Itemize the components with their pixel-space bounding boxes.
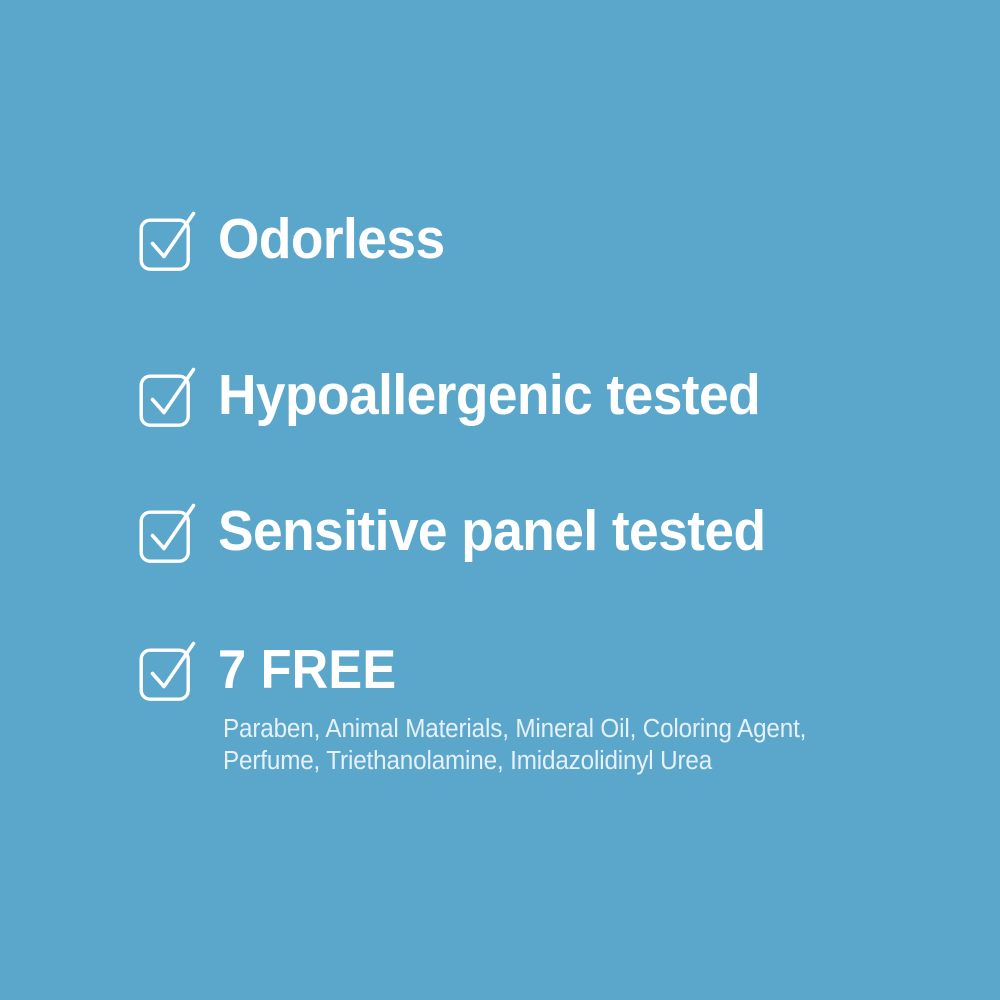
feature-list: Odorless Hypoallergenic tested [0, 0, 1000, 1000]
feature-text-column: Odorless [218, 208, 460, 269]
product-feature-panel: Odorless Hypoallergenic tested [0, 0, 1000, 1000]
feature-subline: Perfume, Triethanolamine, Imidazolidinyl… [223, 745, 806, 777]
list-item: Sensitive panel tested [138, 500, 804, 564]
feature-sublist: Paraben, Animal Materials, Mineral Oil, … [223, 713, 806, 777]
feature-label: Sensitive panel tested [218, 501, 765, 561]
feature-text-column: Sensitive panel tested [218, 500, 804, 561]
checkbox-checked-icon [138, 640, 200, 702]
checkbox-checked-icon [138, 210, 200, 272]
checkbox-checked-icon [138, 366, 200, 428]
feature-label: Odorless [218, 209, 445, 269]
list-item: Odorless [138, 208, 460, 272]
feature-label: 7 FREE [218, 639, 787, 699]
feature-text-column: Hypoallergenic tested [218, 364, 798, 425]
list-item: Hypoallergenic tested [138, 364, 798, 428]
feature-subline: Paraben, Animal Materials, Mineral Oil, … [223, 713, 806, 745]
feature-label: Hypoallergenic tested [218, 365, 760, 425]
list-item: 7 FREE Paraben, Animal Materials, Minera… [138, 638, 837, 777]
checkbox-checked-icon [138, 502, 200, 564]
feature-text-column: 7 FREE Paraben, Animal Materials, Minera… [218, 638, 837, 777]
